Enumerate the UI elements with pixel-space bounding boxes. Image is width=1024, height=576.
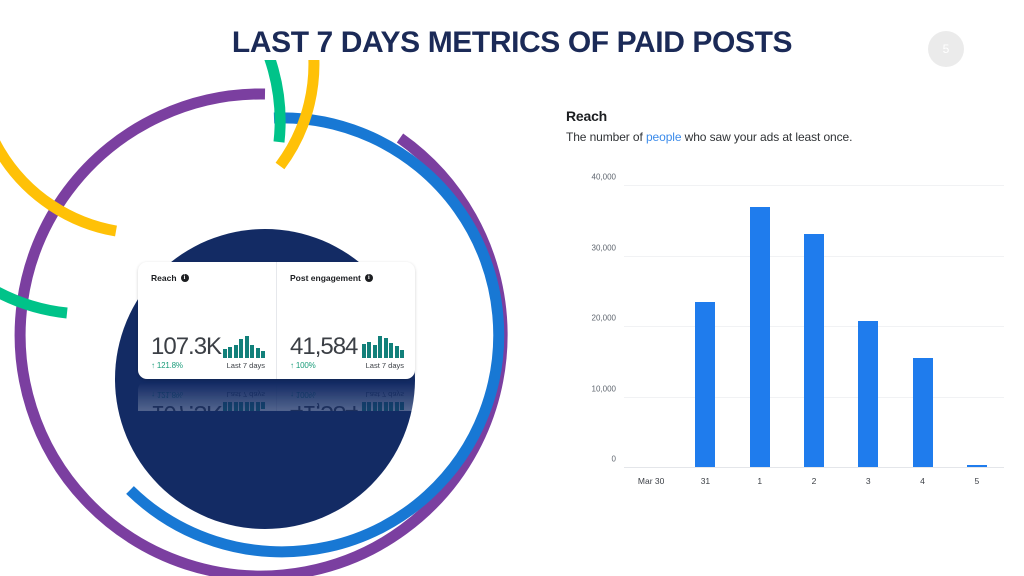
sparkline-chart bbox=[223, 336, 266, 358]
card-sparkline-block: Last 7 days bbox=[223, 336, 266, 370]
card-value-block: 41,584 ↑ 100% bbox=[290, 335, 357, 370]
sparkline-bar bbox=[362, 344, 366, 358]
reach-bar-chart: 010,00020,00030,00040,000 Mar 303112345 bbox=[566, 176, 1006, 506]
metric-delta: ↑ 121.8% bbox=[151, 361, 221, 370]
bar[interactable] bbox=[804, 234, 824, 468]
sparkline-bar bbox=[256, 402, 260, 411]
slide-canvas: LAST 7 DAYS METRICS OF PAID POSTS 5 Reac… bbox=[0, 0, 1024, 576]
yellow-ring bbox=[0, 60, 314, 231]
x-axis-tick-label: 3 bbox=[841, 476, 895, 486]
sparkline-bar bbox=[367, 342, 371, 359]
bar[interactable] bbox=[858, 321, 878, 468]
sparkline-range-label: Last 7 days bbox=[227, 361, 265, 370]
cards-reflection-inner: Reach 107.3K ↑ 121.8% Last 7 days bbox=[138, 381, 415, 411]
reach-panel: Reach The number of people who saw your … bbox=[566, 108, 1006, 508]
bar[interactable] bbox=[695, 302, 715, 468]
bar-cell bbox=[841, 186, 895, 468]
sparkline-bar bbox=[395, 346, 399, 358]
description-text-before: The number of bbox=[566, 130, 646, 144]
bar-cell bbox=[733, 186, 787, 468]
sparkline-bar bbox=[384, 338, 388, 358]
reflection-sparkline bbox=[362, 402, 405, 411]
reach-description: The number of people who saw your ads at… bbox=[566, 130, 1006, 144]
sparkline-bar bbox=[223, 402, 227, 411]
page-title: LAST 7 DAYS METRICS OF PAID POSTS bbox=[0, 26, 1024, 60]
reflection-sparkline bbox=[223, 402, 266, 411]
reflection-card: Post engagement 41,584 ↑ 100% Last 7 day… bbox=[276, 381, 415, 411]
x-axis-tick-label: 1 bbox=[733, 476, 787, 486]
reflection-range: Last 7 days bbox=[227, 390, 265, 399]
metric-card-post-engagement[interactable]: Post engagement i 41,584 ↑ 100% Last 7 d… bbox=[276, 262, 415, 379]
card-label: Post engagement bbox=[290, 273, 361, 283]
card-body: 41,584 ↑ 100% Last 7 days bbox=[290, 335, 404, 370]
bar[interactable] bbox=[750, 207, 770, 468]
sparkline-bar bbox=[373, 402, 377, 411]
sparkline-bar bbox=[395, 402, 399, 411]
chart-plot-area: 010,00020,00030,00040,000 bbox=[624, 186, 1004, 468]
sparkline-bar bbox=[384, 402, 388, 411]
reflection-body: 107.3K ↑ 121.8% Last 7 days bbox=[151, 390, 265, 411]
x-axis-tick-label: 31 bbox=[678, 476, 732, 486]
sparkline-range-label: Last 7 days bbox=[366, 361, 404, 370]
reflection-card: Reach 107.3K ↑ 121.8% Last 7 days bbox=[138, 381, 276, 411]
sparkline-bar bbox=[378, 336, 382, 358]
sparkline-bar bbox=[362, 402, 366, 411]
sparkline-bar bbox=[234, 345, 238, 358]
sparkline-bar bbox=[400, 350, 404, 358]
y-axis-tick-label: 20,000 bbox=[592, 314, 616, 323]
reflection-value-block: 41,584 ↑ 100% bbox=[290, 390, 357, 411]
bar[interactable] bbox=[913, 358, 933, 468]
chart-x-axis-line bbox=[624, 467, 1004, 468]
reach-heading: Reach bbox=[566, 108, 1006, 124]
sparkline-bar bbox=[367, 402, 371, 411]
sparkline-chart bbox=[362, 336, 405, 358]
y-axis-tick-label: 10,000 bbox=[592, 384, 616, 393]
card-label: Reach bbox=[151, 273, 177, 283]
page-number-badge: 5 bbox=[928, 31, 964, 67]
x-axis-tick-label: Mar 30 bbox=[624, 476, 678, 486]
reflection-spark-block: Last 7 days bbox=[223, 390, 266, 411]
cards-reflection: Reach 107.3K ↑ 121.8% Last 7 days bbox=[138, 381, 415, 411]
sparkline-bar bbox=[223, 349, 227, 358]
info-icon[interactable]: i bbox=[181, 274, 189, 282]
bar-cell bbox=[787, 186, 841, 468]
chart-bars bbox=[624, 186, 1004, 468]
concentric-rings-graphic: Reach i 107.3K ↑ 121.8% Last 7 days bbox=[0, 60, 550, 576]
x-axis-tick-label: 2 bbox=[787, 476, 841, 486]
chart-x-axis-labels: Mar 303112345 bbox=[624, 476, 1004, 486]
y-axis-tick-label: 0 bbox=[612, 455, 616, 464]
sparkline-bar bbox=[245, 336, 249, 358]
x-axis-tick-label: 5 bbox=[950, 476, 1004, 486]
sparkline-bar bbox=[400, 402, 404, 410]
card-header: Post engagement i bbox=[290, 273, 404, 283]
bar-cell bbox=[678, 186, 732, 468]
sparkline-bar bbox=[239, 402, 243, 411]
reflection-delta: ↑ 100% bbox=[290, 390, 357, 399]
metric-card-reach[interactable]: Reach i 107.3K ↑ 121.8% Last 7 days bbox=[138, 262, 276, 379]
sparkline-bar bbox=[261, 351, 265, 358]
reflection-spark-block: Last 7 days bbox=[362, 390, 405, 411]
card-body: 107.3K ↑ 121.8% Last 7 days bbox=[151, 335, 265, 370]
metric-value: 107.3K bbox=[151, 335, 221, 359]
description-text-after: who saw your ads at least once. bbox=[681, 130, 852, 144]
sparkline-bar bbox=[239, 339, 243, 358]
card-value-block: 107.3K ↑ 121.8% bbox=[151, 335, 221, 370]
people-link[interactable]: people bbox=[646, 130, 681, 144]
reflection-value: 41,584 bbox=[290, 401, 357, 411]
sparkline-bar bbox=[250, 402, 254, 411]
sparkline-bar bbox=[378, 402, 382, 411]
reflection-body: 41,584 ↑ 100% Last 7 days bbox=[290, 390, 404, 411]
sparkline-bar bbox=[256, 348, 260, 358]
x-axis-tick-label: 4 bbox=[895, 476, 949, 486]
sparkline-bar bbox=[250, 345, 254, 358]
reflection-range: Last 7 days bbox=[366, 390, 404, 399]
sparkline-bar bbox=[228, 347, 232, 358]
y-axis-tick-label: 40,000 bbox=[592, 173, 616, 182]
card-sparkline-block: Last 7 days bbox=[362, 336, 405, 370]
card-header: Reach i bbox=[151, 273, 265, 283]
metric-delta: ↑ 100% bbox=[290, 361, 357, 370]
metric-cards: Reach i 107.3K ↑ 121.8% Last 7 days bbox=[138, 262, 415, 379]
reflection-delta: ↑ 121.8% bbox=[151, 390, 221, 399]
metric-value: 41,584 bbox=[290, 335, 357, 359]
bar-cell bbox=[624, 186, 678, 468]
bar-cell bbox=[950, 186, 1004, 468]
reflection-value: 107.3K bbox=[151, 401, 221, 411]
sparkline-bar bbox=[245, 402, 249, 411]
reflection-value-block: 107.3K ↑ 121.8% bbox=[151, 390, 221, 411]
sparkline-bar bbox=[234, 402, 238, 411]
sparkline-bar bbox=[261, 402, 265, 409]
bar-cell bbox=[895, 186, 949, 468]
y-axis-tick-label: 30,000 bbox=[592, 243, 616, 252]
info-icon[interactable]: i bbox=[365, 274, 373, 282]
sparkline-bar bbox=[389, 402, 393, 411]
sparkline-bar bbox=[389, 343, 393, 358]
sparkline-bar bbox=[373, 345, 377, 358]
sparkline-bar bbox=[228, 402, 232, 411]
